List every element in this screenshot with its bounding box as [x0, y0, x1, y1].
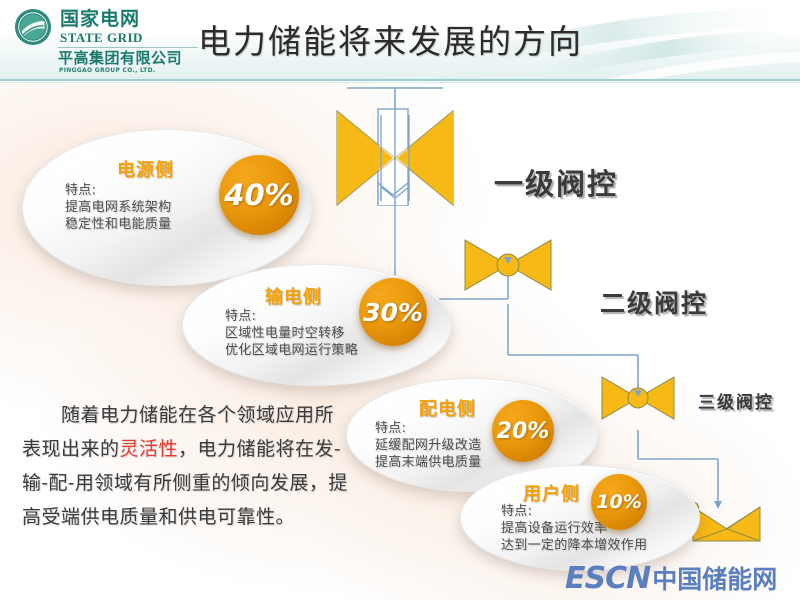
logo-subsidiary-en: PINGGAO GROUP CO., LTD.: [59, 67, 155, 74]
valve-level-3-label: 三级阀控: [698, 388, 774, 413]
card-feature-line-2: 达到一定的降本增效作用: [501, 537, 647, 554]
logo-company-name-cn: 国家电网: [60, 9, 140, 29]
card-body-transmission-side: 特点: 区域性电量时空转移 优化区域电网运行策略: [225, 308, 358, 359]
slide-header: 国家电网 STATE GRID 平高集团有限公司 PINGGAO GROUP C…: [0, 0, 800, 80]
state-grid-logo: 国家电网 STATE GRID 平高集团有限公司 PINGGAO GROUP C…: [14, 6, 199, 72]
summary-paragraph: 随着电力储能在各个领域应用所表现出来的灵活性，电力储能将在发-输-配-用领域有所…: [22, 398, 352, 534]
card-feature-line-1: 提高电网系统架构: [65, 199, 171, 216]
watermark-brand: ESCN: [565, 561, 650, 596]
card-title-power-generation-side: 电源侧: [117, 156, 174, 182]
paragraph-highlight: 灵活性: [120, 438, 179, 460]
percent-value-40: 40%: [224, 178, 293, 212]
logo-subsidiary-cn: 平高集团有限公司: [58, 50, 182, 67]
card-feature-line-2: 稳定性和电能质量: [65, 216, 171, 233]
watermark: ESCN 中国储能网: [565, 560, 777, 596]
card-feature-line-2: 优化区域电网运行策略: [225, 342, 358, 359]
logo-company-name-en: STATE GRID: [60, 30, 143, 46]
card-body-distribution-side: 特点: 延缓配网升级改造 提高末端供电质量: [375, 420, 481, 471]
card-feature-label: 特点:: [225, 308, 358, 325]
watermark-brand-cn: 中国储能网: [652, 560, 777, 596]
percent-value-10: 10%: [596, 491, 641, 513]
valve-level-1-symbol: [337, 109, 453, 269]
card-title-transmission-side: 输电侧: [265, 283, 322, 309]
page-title: 电力储能将来发展的方向: [198, 22, 583, 62]
percent-badge-distribution-side: 20%: [492, 400, 554, 462]
card-feature-label: 特点:: [65, 182, 171, 199]
slide-canvas: 国家电网 STATE GRID 平高集团有限公司 PINGGAO GROUP C…: [0, 0, 800, 600]
card-feature-line-1: 延缓配网升级改造: [375, 437, 481, 454]
valve-terminal-symbol: [690, 501, 761, 541]
logo-divider: [58, 47, 198, 48]
header-rule: [0, 79, 800, 81]
card-feature-line-2: 提高末端供电质量: [375, 454, 481, 471]
card-title-distribution-side: 配电侧: [419, 395, 476, 421]
card-consumer-side[interactable]: 用户侧 特点: 提高设备运行效率 达到一定的降本增效作用: [460, 465, 700, 571]
percent-badge-transmission-side: 30%: [359, 278, 427, 346]
percent-badge-power-generation-side: 40%: [219, 155, 299, 235]
card-feature-line-1: 区域性电量时空转移: [225, 325, 358, 342]
valve-level-1-label: 一级阀控: [494, 161, 618, 203]
percent-badge-consumer-side: 10%: [591, 474, 647, 530]
percent-value-20: 20%: [497, 419, 550, 444]
card-feature-label: 特点:: [375, 420, 481, 437]
valve-level-2-label: 二级阀控: [600, 284, 708, 320]
card-body-power-generation-side: 特点: 提高电网系统架构 稳定性和电能质量: [65, 182, 171, 233]
state-grid-globe-logo-icon: [14, 8, 52, 46]
percent-value-30: 30%: [363, 298, 423, 327]
